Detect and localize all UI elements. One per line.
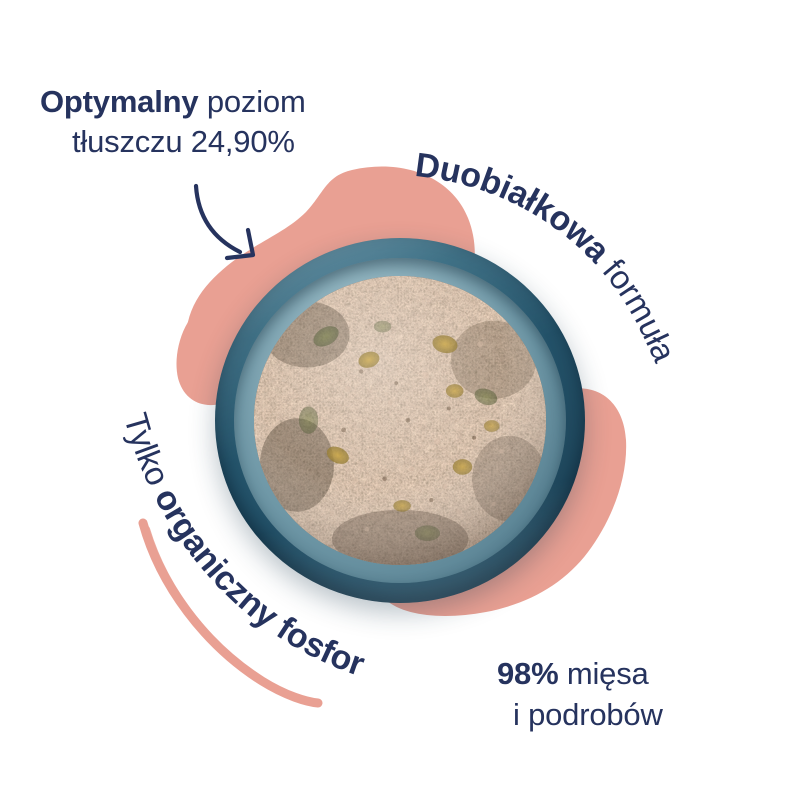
- arrow-layer: [0, 0, 800, 800]
- infographic-canvas: Duobiałkowa formuła Tylko organiczny fos…: [0, 0, 800, 800]
- curved-arrow-to-bowl: [196, 186, 240, 252]
